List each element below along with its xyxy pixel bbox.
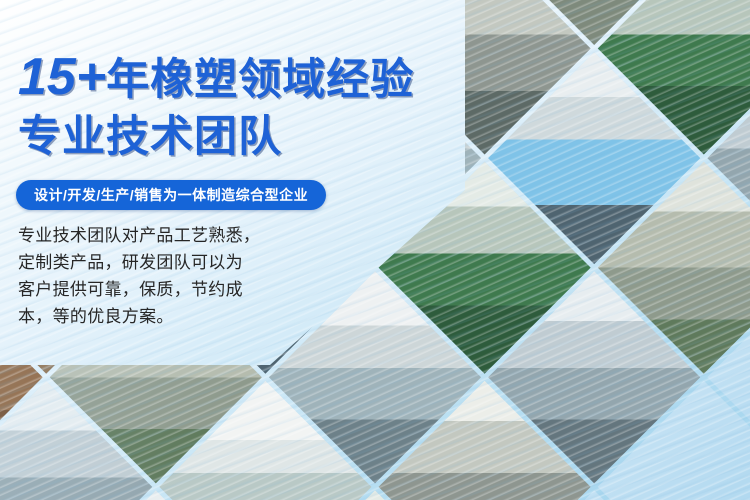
status-badge: 设计/开发/生产/销售为一体制造综合型企业 (16, 180, 326, 210)
headline-years-number: 15+ (18, 48, 106, 106)
headline-line-1: 15+年橡塑领域经验 (18, 52, 414, 105)
body-copy-line-4: 本，等的优良方案。 (18, 303, 286, 330)
headline-line-2: 专业技术团队 (18, 112, 282, 162)
promotional-banner: 15+年橡塑领域经验 专业技术团队 设计/开发/生产/销售为一体制造综合型企业 … (0, 0, 750, 500)
headline-line-1-text: 年橡塑领域经验 (106, 56, 414, 104)
body-copy-line-3: 客户提供可靠，保质，节约成 (18, 276, 286, 303)
text-block: 15+年橡塑领域经验 专业技术团队 设计/开发/生产/销售为一体制造综合型企业 … (0, 0, 470, 360)
body-copy: 专业技术团队对产品工艺熟悉， 定制类产品，研发团队可以为 客户提供可靠，保质，节… (18, 222, 286, 330)
body-copy-line-2: 定制类产品，研发团队可以为 (18, 249, 286, 276)
body-copy-line-1: 专业技术团队对产品工艺熟悉， (18, 222, 286, 249)
